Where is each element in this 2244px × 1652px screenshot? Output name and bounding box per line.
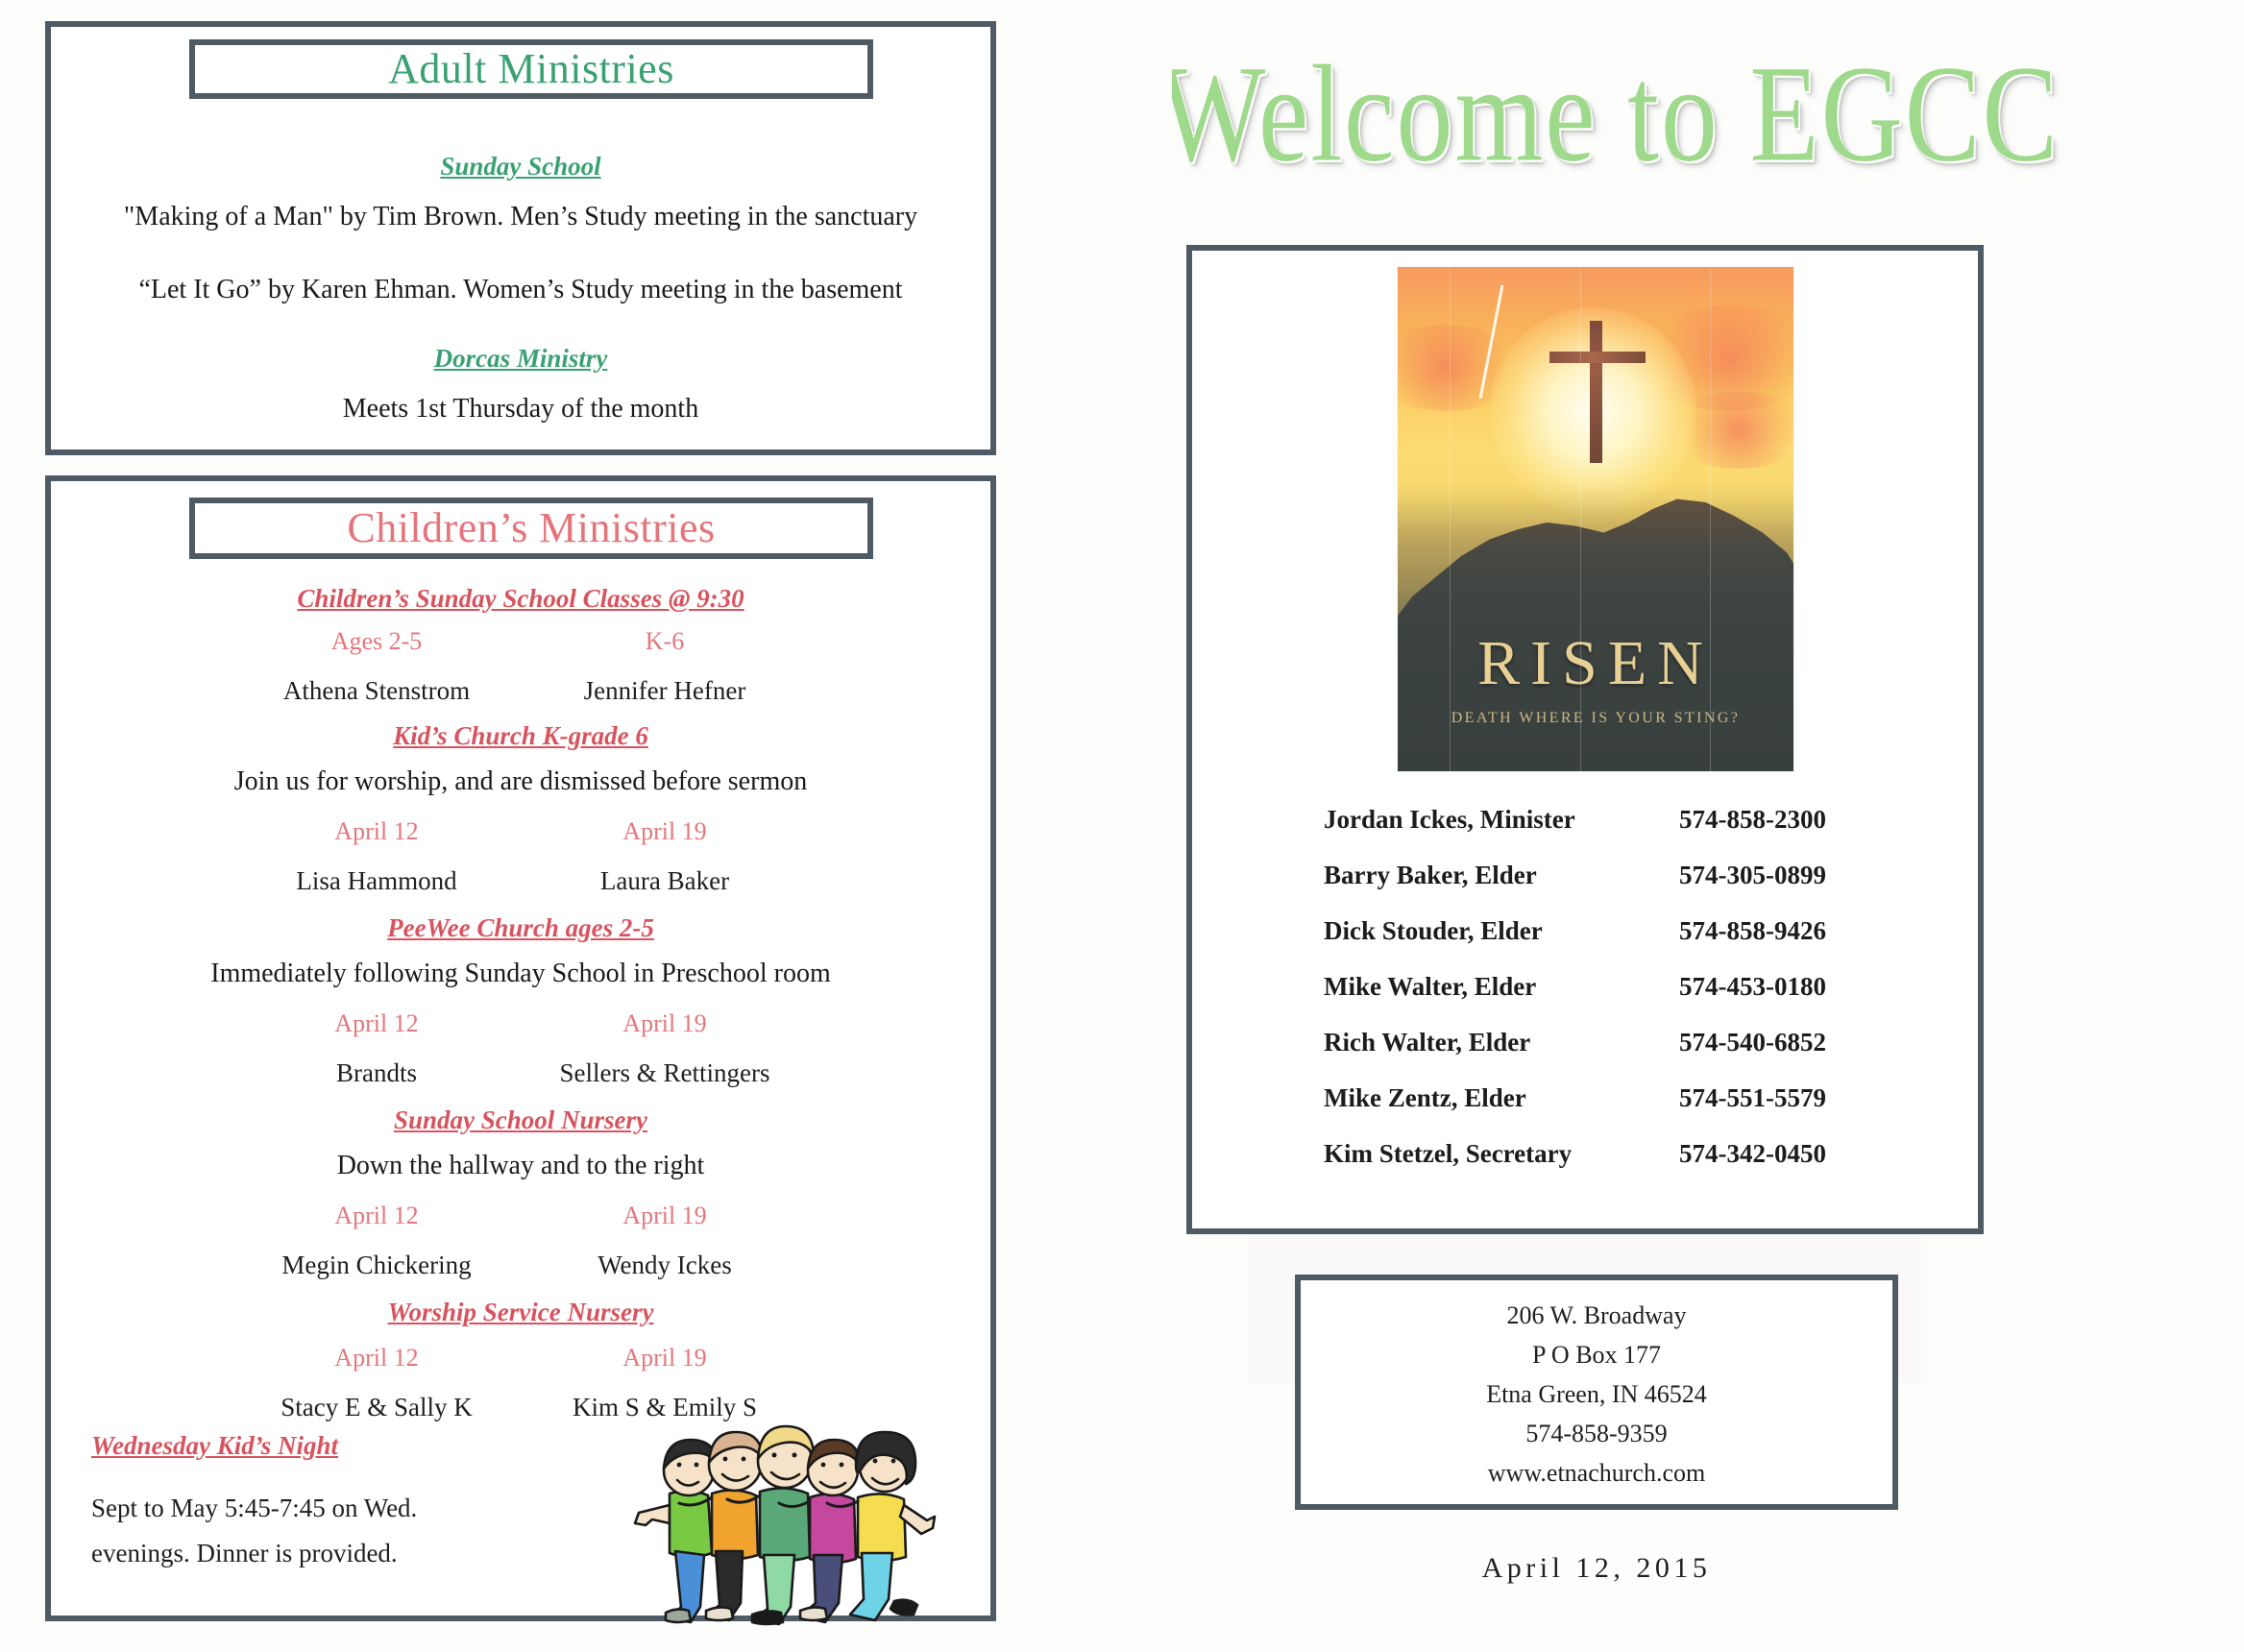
staff-name: Mike Zentz, Elder bbox=[1324, 1083, 1679, 1113]
childrens-ministries-title-box: Children’s Ministries bbox=[189, 498, 873, 559]
sunday-school-nursery-note: Down the hallway and to the right bbox=[51, 1151, 990, 1181]
staff-phone: 574-858-2300 bbox=[1679, 805, 1826, 835]
scan-fold-line bbox=[1580, 267, 1581, 771]
ss-nursery-date-b: April 19 bbox=[521, 1202, 809, 1230]
scan-fold-line bbox=[1450, 267, 1451, 771]
adult-womens-study-line: “Let It Go” by Karen Ehman. Women’s Stud… bbox=[51, 275, 990, 305]
staff-phone: 574-342-0450 bbox=[1679, 1139, 1826, 1169]
class-label-ages-2-5: Ages 2-5 bbox=[232, 627, 521, 656]
staff-row: Kim Stetzel, Secretary 574-342-0450 bbox=[1324, 1139, 1919, 1195]
risen-title-text: RISEN bbox=[1398, 627, 1793, 700]
adult-mens-study-line: "Making of a Man" by Tim Brown. Men’s St… bbox=[51, 202, 990, 232]
ss-nursery-helper-b: Wendy Ickes bbox=[521, 1251, 809, 1280]
sunday-school-teachers: Athena Stenstrom Jennifer Hefner bbox=[51, 676, 990, 706]
staff-name: Kim Stetzel, Secretary bbox=[1324, 1139, 1679, 1169]
class-label-k-6: K-6 bbox=[521, 627, 809, 656]
welcome-banner-text: Welcome to EGCC bbox=[1172, 35, 2060, 173]
adult-ministries-panel: Adult Ministries Sunday School "Making o… bbox=[45, 21, 996, 455]
address-po-box: P O Box 177 bbox=[1301, 1335, 1892, 1374]
sunday-school-nursery-helpers: Megin Chickering Wendy Ickes bbox=[51, 1251, 990, 1280]
address-phone: 574-858-9359 bbox=[1301, 1414, 1892, 1453]
worship-nursery-date-b: April 19 bbox=[521, 1344, 809, 1373]
peewee-church-note: Immediately following Sunday School in P… bbox=[51, 959, 990, 989]
staff-phone: 574-551-5579 bbox=[1679, 1083, 1826, 1113]
staff-row: Mike Zentz, Elder 574-551-5579 bbox=[1324, 1083, 1919, 1139]
kids-church-helper-b: Laura Baker bbox=[521, 866, 809, 896]
kids-church-dates: April 12 April 19 bbox=[51, 817, 990, 846]
adult-sunday-school-heading: Sunday School bbox=[51, 152, 990, 182]
staff-name: Dick Stouder, Elder bbox=[1324, 916, 1679, 946]
staff-phone: 574-453-0180 bbox=[1679, 972, 1826, 1002]
sunday-school-class-labels: Ages 2-5 K-6 bbox=[51, 627, 990, 656]
wednesday-kids-night-line1: Sept to May 5:45-7:45 on Wed. bbox=[91, 1486, 504, 1531]
worship-nursery-dates: April 12 April 19 bbox=[51, 1344, 990, 1373]
teacher-k-6: Jennifer Hefner bbox=[521, 676, 809, 706]
adult-ministries-title: Adult Ministries bbox=[388, 48, 674, 90]
sunday-school-nursery-heading: Sunday School Nursery bbox=[51, 1105, 990, 1135]
staff-name: Jordan Ickes, Minister bbox=[1324, 805, 1679, 835]
staff-phone: 574-305-0899 bbox=[1679, 861, 1826, 890]
kids-church-date-b: April 19 bbox=[521, 817, 809, 846]
staff-name: Barry Baker, Elder bbox=[1324, 861, 1679, 890]
ss-nursery-helper-a: Megin Chickering bbox=[232, 1251, 521, 1280]
worship-nursery-helper-a: Stacy E & Sally K bbox=[232, 1393, 521, 1422]
bulletin-date: April 12, 2015 bbox=[1295, 1552, 1898, 1585]
childrens-ministries-title: Children’s Ministries bbox=[347, 507, 715, 549]
kids-church-helpers: Lisa Hammond Laura Baker bbox=[51, 866, 990, 896]
wednesday-kids-night-line2: evenings. Dinner is provided. bbox=[91, 1531, 504, 1576]
peewee-church-dates: April 12 April 19 bbox=[51, 1009, 990, 1038]
scan-fold-line bbox=[1710, 267, 1711, 771]
adult-ministries-title-box: Adult Ministries bbox=[189, 39, 873, 99]
kids-church-note: Join us for worship, and are dismissed b… bbox=[51, 766, 990, 797]
peewee-church-date-b: April 19 bbox=[521, 1009, 809, 1038]
kids-church-helper-a: Lisa Hammond bbox=[232, 866, 521, 896]
peewee-church-helper-a: Brandts bbox=[232, 1058, 521, 1088]
peewee-church-date-a: April 12 bbox=[232, 1009, 521, 1038]
ss-nursery-date-a: April 12 bbox=[232, 1202, 521, 1230]
cross-horizontal-beam bbox=[1549, 352, 1646, 363]
staff-name: Rich Walter, Elder bbox=[1324, 1028, 1679, 1057]
childrens-sunday-school-heading: Children’s Sunday School Classes @ 9:30 bbox=[51, 584, 990, 614]
sunday-school-nursery-dates: April 12 April 19 bbox=[51, 1202, 990, 1230]
risen-poster-image: RISEN DEATH WHERE IS YOUR STING? bbox=[1398, 267, 1793, 771]
staff-contact-list: Jordan Ickes, Minister 574-858-2300 Barr… bbox=[1324, 805, 1919, 1195]
staff-phone: 574-858-9426 bbox=[1679, 916, 1826, 946]
dorcas-ministry-heading: Dorcas Ministry bbox=[51, 344, 990, 374]
staff-row: Mike Walter, Elder 574-453-0180 bbox=[1324, 972, 1919, 1028]
staff-row: Barry Baker, Elder 574-305-0899 bbox=[1324, 861, 1919, 916]
dorcas-ministry-line: Meets 1st Thursday of the month bbox=[51, 394, 990, 425]
address-city-state-zip: Etna Green, IN 46524 bbox=[1301, 1374, 1892, 1414]
staff-name: Mike Walter, Elder bbox=[1324, 972, 1679, 1002]
staff-row: Rich Walter, Elder 574-540-6852 bbox=[1324, 1028, 1919, 1083]
address-street: 206 W. Broadway bbox=[1301, 1296, 1892, 1335]
kids-church-date-a: April 12 bbox=[232, 817, 521, 846]
peewee-church-helpers: Brandts Sellers & Rettingers bbox=[51, 1058, 990, 1088]
address-website: www.etnachurch.com bbox=[1301, 1453, 1892, 1493]
worship-service-nursery-heading: Worship Service Nursery bbox=[51, 1298, 990, 1327]
five-children-clipart bbox=[620, 1397, 937, 1628]
teacher-ages-2-5: Athena Stenstrom bbox=[232, 676, 521, 706]
staff-phone: 574-540-6852 bbox=[1679, 1028, 1826, 1057]
worship-nursery-date-a: April 12 bbox=[232, 1344, 521, 1373]
church-address-box: 206 W. Broadway P O Box 177 Etna Green, … bbox=[1295, 1275, 1898, 1510]
peewee-church-heading: PeeWee Church ages 2-5 bbox=[51, 913, 990, 943]
staff-row: Jordan Ickes, Minister 574-858-2300 bbox=[1324, 805, 1919, 861]
wednesday-kids-night-heading: Wednesday Kid’s Night bbox=[91, 1431, 338, 1461]
cross-vertical-beam bbox=[1590, 321, 1602, 463]
kids-church-heading: Kid’s Church K-grade 6 bbox=[51, 721, 990, 751]
wednesday-kids-night-block: Wednesday Kid’s Night Sept to May 5:45-7… bbox=[91, 1431, 504, 1577]
welcome-banner: Welcome to EGCC bbox=[1172, 29, 2244, 173]
peewee-church-helper-b: Sellers & Rettingers bbox=[521, 1058, 809, 1088]
staff-row: Dick Stouder, Elder 574-858-9426 bbox=[1324, 916, 1919, 972]
risen-tagline-text: DEATH WHERE IS YOUR STING? bbox=[1398, 710, 1793, 727]
scanned-bulletin-page: Adult Ministries Sunday School "Making o… bbox=[0, 0, 2244, 1652]
